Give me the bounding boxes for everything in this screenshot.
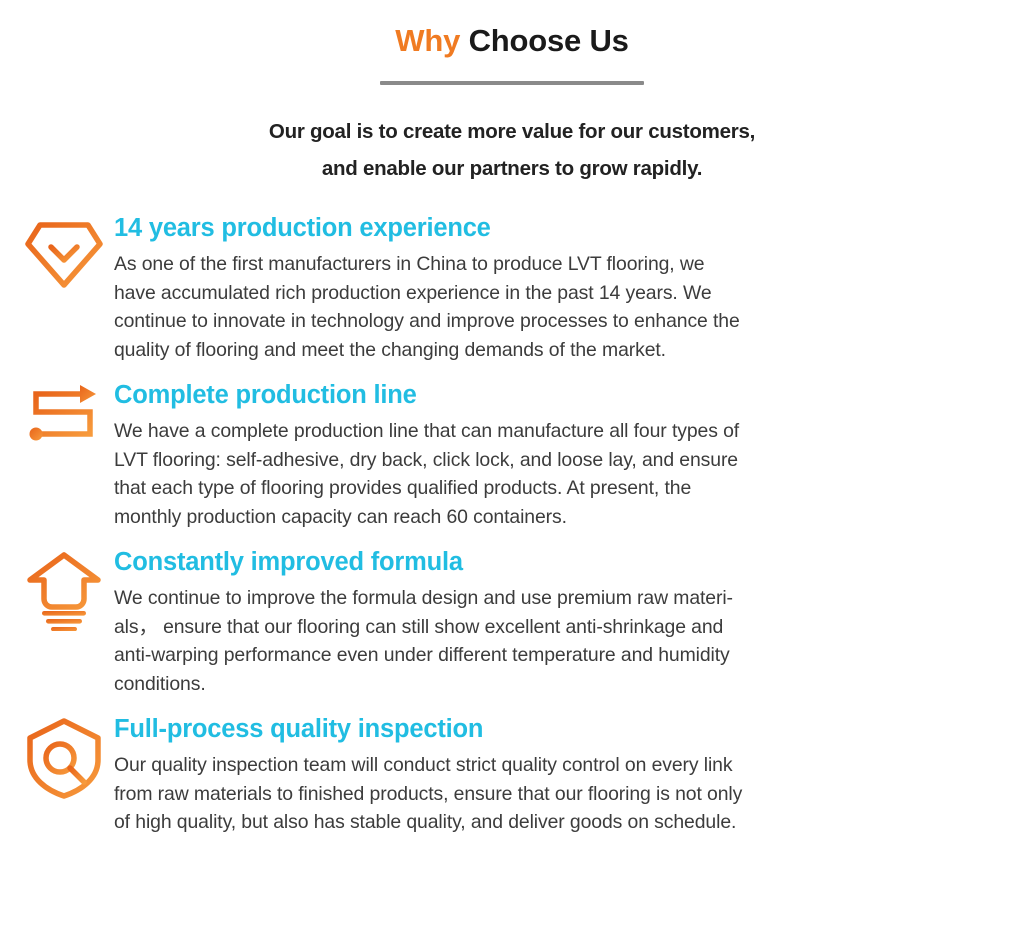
diamond-check-icon: [14, 211, 114, 303]
feature-text-line: anti-warping performance even under diff…: [114, 641, 974, 670]
feature-text: We continue to improve the formula desig…: [114, 584, 974, 698]
feature-title: 14 years production experience: [114, 211, 974, 245]
feature-title: Constantly improved formula: [114, 545, 974, 579]
why-choose-us-page: Why Choose Us Our goal is to create more…: [0, 0, 1024, 938]
feature-text-line: that each type of flooring provides qual…: [114, 474, 974, 503]
page-title-accent: Why: [395, 23, 460, 58]
feature-text-line: from raw materials to finished products,…: [114, 780, 974, 809]
lightbulb-up-arrow-icon: [14, 545, 114, 637]
feature-list: 14 years production experience As one of…: [0, 211, 1024, 837]
feature-text-line: We have a complete production line that …: [114, 417, 974, 446]
page-header: Why Choose Us: [0, 0, 1024, 85]
title-divider: [380, 81, 644, 85]
feature-body: Complete production line We have a compl…: [114, 378, 974, 531]
feature-text-line: als， ensure that our flooring can still …: [114, 613, 974, 642]
subtitle: Our goal is to create more value for our…: [0, 113, 1024, 187]
feature-title: Complete production line: [114, 378, 974, 412]
feature-text-line: conditions.: [114, 670, 974, 699]
feature-text-line: continue to innovate in technology and i…: [114, 307, 974, 336]
feature-body: 14 years production experience As one of…: [114, 211, 974, 364]
feature-text: As one of the first manufacturers in Chi…: [114, 250, 974, 364]
feature-text-line: monthly production capacity can reach 60…: [114, 503, 974, 532]
feature-item: Complete production line We have a compl…: [0, 378, 1024, 531]
feature-body: Constantly improved formula We continue …: [114, 545, 974, 698]
feature-title: Full-process quality inspection: [114, 712, 974, 746]
feature-text: Our quality inspection team will conduct…: [114, 751, 974, 837]
feature-text-line: LVT flooring: self-adhesive, dry back, c…: [114, 446, 974, 475]
feature-item: Full-process quality inspection Our qual…: [0, 712, 1024, 837]
subtitle-line-1: Our goal is to create more value for our…: [0, 113, 1024, 150]
subtitle-line-2: and enable our partners to grow rapidly.: [0, 150, 1024, 187]
process-flow-arrow-icon: [14, 378, 114, 470]
shield-magnifier-icon: [14, 712, 114, 804]
feature-text-line: quality of flooring and meet the changin…: [114, 336, 974, 365]
feature-text-line: of high quality, but also has stable qua…: [114, 808, 974, 837]
feature-item: Constantly improved formula We continue …: [0, 545, 1024, 698]
feature-text-line: As one of the first manufacturers in Chi…: [114, 250, 974, 279]
page-title-rest: Choose Us: [469, 23, 629, 58]
feature-text-line: have accumulated rich production experie…: [114, 279, 974, 308]
feature-body: Full-process quality inspection Our qual…: [114, 712, 974, 837]
page-title: Why Choose Us: [0, 22, 1024, 60]
feature-text: We have a complete production line that …: [114, 417, 974, 531]
feature-text-line: We continue to improve the formula desig…: [114, 584, 974, 613]
feature-text-line: Our quality inspection team will conduct…: [114, 751, 974, 780]
feature-item: 14 years production experience As one of…: [0, 211, 1024, 364]
